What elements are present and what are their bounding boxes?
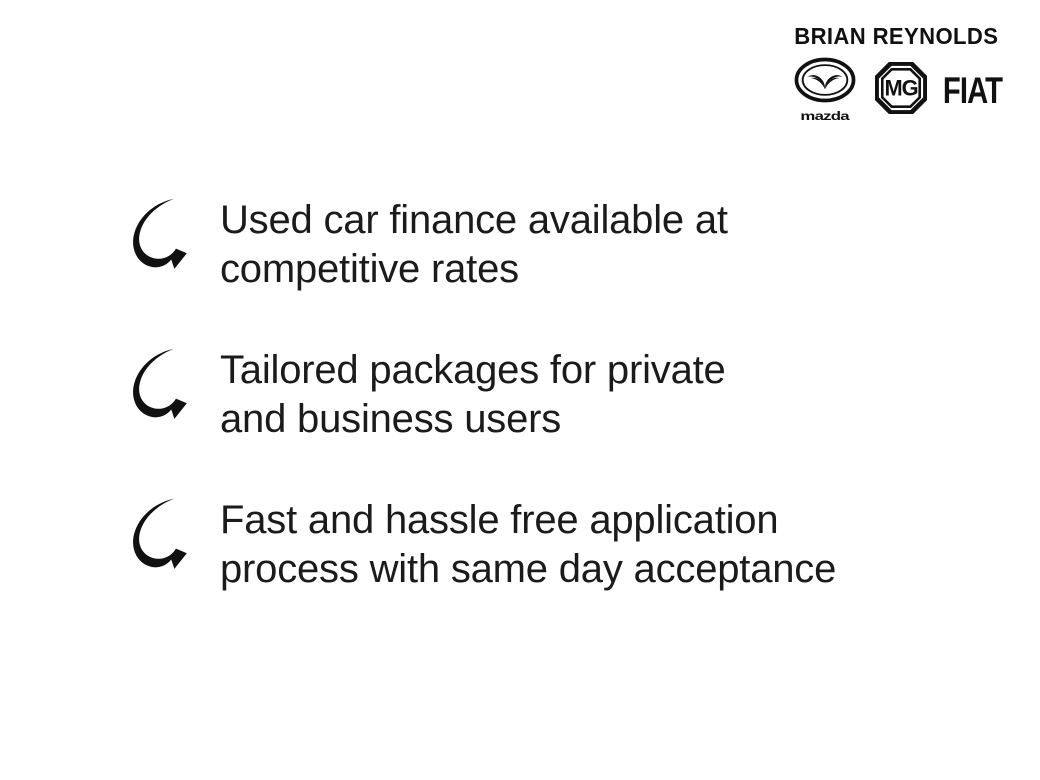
slide-canvas: BRIAN REYNOLDS mazda xyxy=(0,0,1040,780)
curved-arrow-icon xyxy=(126,194,204,272)
curved-arrow-icon xyxy=(126,494,204,572)
mazda-logo-icon xyxy=(794,57,856,108)
list-item-text: Tailored packages for private and busine… xyxy=(220,340,726,444)
svg-text:MG: MG xyxy=(884,76,917,101)
fiat-logo-icon: FIAT xyxy=(942,72,1001,109)
benefits-list: Used car finance available at competitiv… xyxy=(126,190,966,594)
mg-logo-icon: MG xyxy=(875,62,927,119)
curved-arrow-icon xyxy=(126,344,204,422)
list-item: Tailored packages for private and busine… xyxy=(126,340,966,444)
list-item-text: Used car finance available at competitiv… xyxy=(220,190,728,294)
marque-mg: MG xyxy=(873,62,929,119)
marque-fiat: FIAT xyxy=(942,74,1002,108)
dealer-name: BRIAN REYNOLDS xyxy=(794,24,998,48)
brand-block: BRIAN REYNOLDS mazda xyxy=(788,24,1004,124)
list-item-text: Fast and hassle free application process… xyxy=(220,490,836,594)
list-item: Used car finance available at competitiv… xyxy=(126,190,966,294)
marque-row: mazda MG FIAT xyxy=(788,57,1004,124)
list-item: Fast and hassle free application process… xyxy=(126,490,966,594)
mazda-wordmark: mazda xyxy=(801,110,849,122)
marque-mazda: mazda xyxy=(790,57,860,124)
